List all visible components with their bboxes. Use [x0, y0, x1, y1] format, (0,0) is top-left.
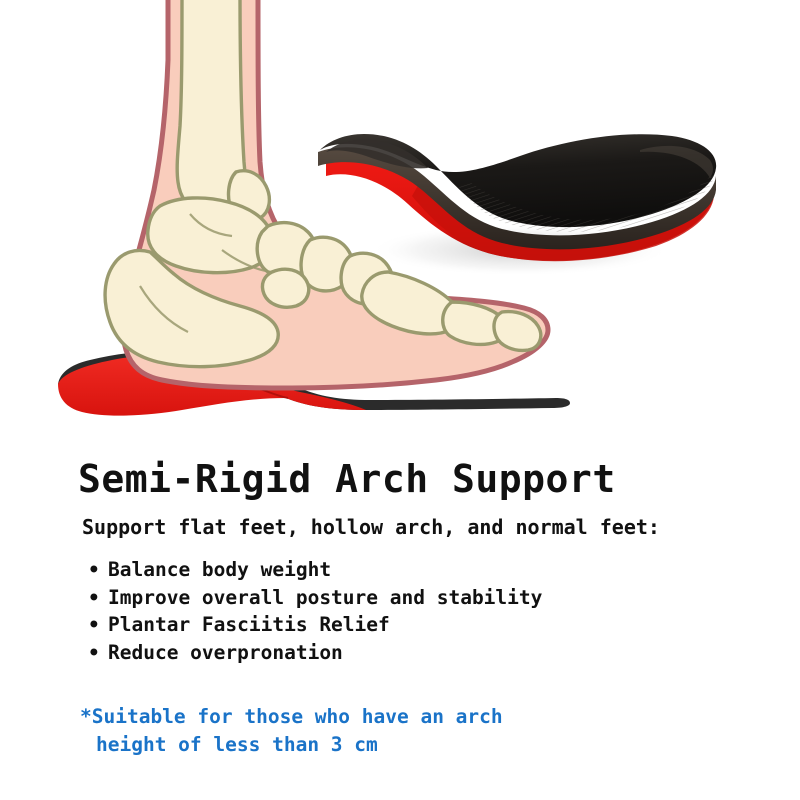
- list-item: • Improve overall posture and stability: [0, 584, 800, 612]
- list-item: • Reduce overpronation: [0, 639, 800, 667]
- list-item-label: Improve overall posture and stability: [108, 586, 542, 609]
- page-title: Semi-Rigid Arch Support: [0, 445, 800, 500]
- list-item: • Balance body weight: [0, 556, 800, 584]
- list-item-label: Reduce overpronation: [108, 641, 343, 664]
- bullet-marker-icon: •: [88, 611, 100, 639]
- bullet-marker-icon: •: [88, 584, 100, 612]
- bullet-marker-icon: •: [88, 639, 100, 667]
- list-item-label: Balance body weight: [108, 558, 331, 581]
- note-line-2: height of less than 3 cm: [80, 731, 800, 759]
- arch-height-note: *Suitable for those who have an arch hei…: [0, 667, 800, 760]
- list-item: • Plantar Fasciitis Relief: [0, 611, 800, 639]
- illustration-area: [0, 0, 800, 445]
- bone-cuboid: [262, 269, 308, 307]
- foot-and-insole-illustration: [0, 0, 800, 445]
- text-content-block: Semi-Rigid Arch Support Support flat fee…: [0, 445, 800, 759]
- bullet-marker-icon: •: [88, 556, 100, 584]
- product-infographic-page: Semi-Rigid Arch Support Support flat fee…: [0, 0, 800, 800]
- list-item-label: Plantar Fasciitis Relief: [108, 613, 390, 636]
- benefits-list: • Balance body weight • Improve overall …: [0, 538, 800, 667]
- note-line-1: *Suitable for those who have an arch: [80, 705, 503, 728]
- subtitle-text: Support flat feet, hollow arch, and norm…: [0, 500, 800, 538]
